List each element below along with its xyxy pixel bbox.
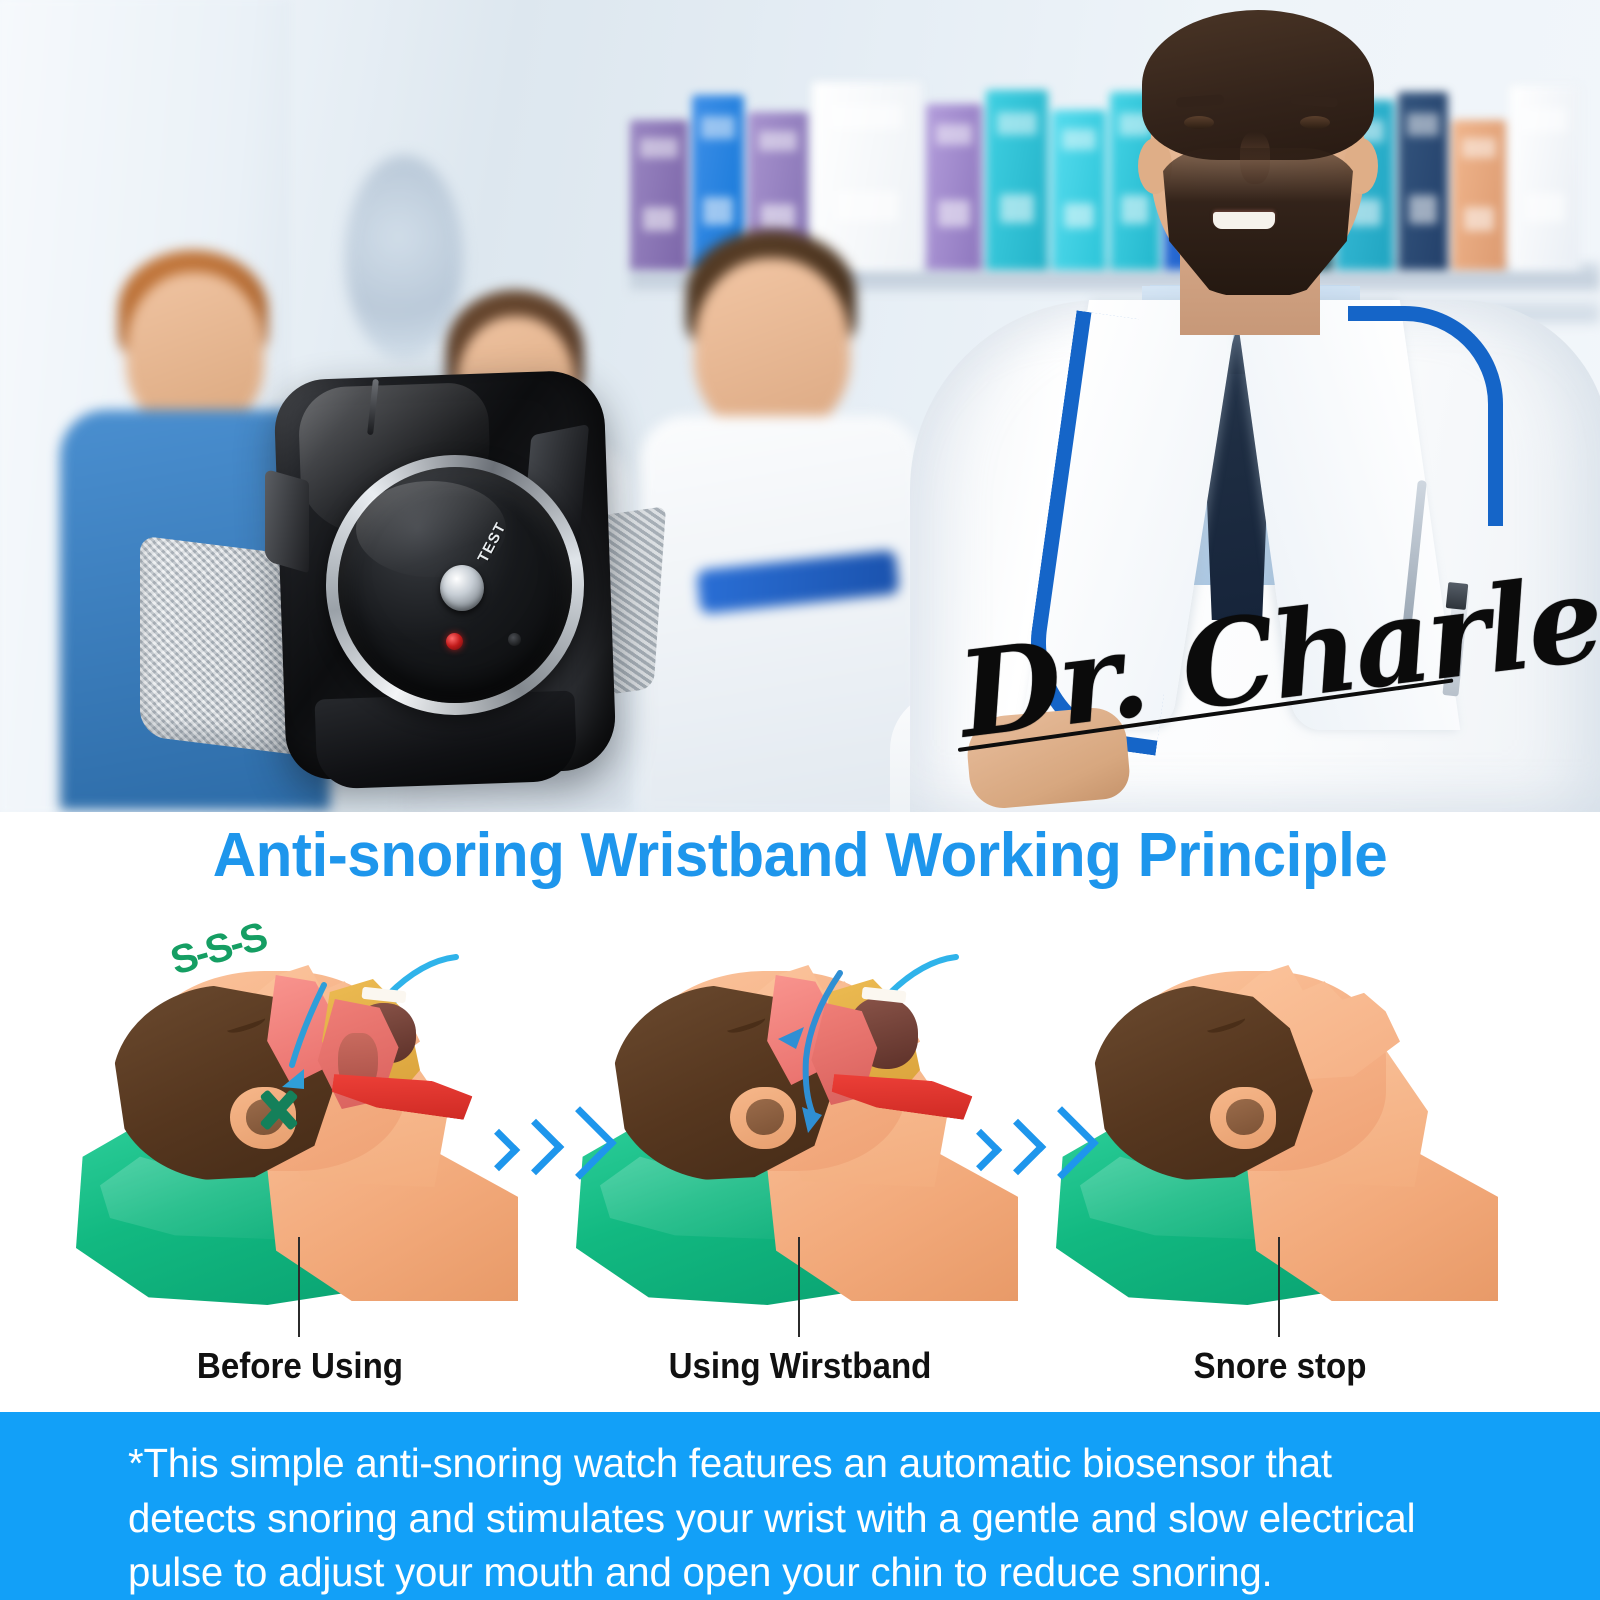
chevron-separator-2 [960,1105,1080,1215]
working-principle-diagram: S-S-S [0,905,1600,1410]
blocked-airway-marker [256,1087,302,1133]
doctor-eye-right [1300,116,1330,129]
doctor-eye-left [1184,116,1214,129]
doctor-hand [964,705,1131,811]
chevron-separator-1 [478,1105,598,1215]
device-microphone-icon [508,633,521,646]
hero-photo-section: Dr. Charles TEST [0,0,1600,812]
pen-clip [1446,582,1469,610]
airflow-path-open-icon [756,967,866,1157]
panel-caption-before-using: Before Using [88,1345,511,1387]
device-led-indicator [446,633,463,650]
page-title: Anti-snoring Wristband Working Principle [24,820,1576,891]
product-wristband: TEST [130,365,670,795]
illustration-snoring: S-S-S [70,937,530,1277]
infographic-page: Dr. Charles TEST Anti-snoring Wristband … [0,0,1600,1600]
diagram-panel-snore-stop: Snore stop [1050,905,1510,1410]
caption-leader-line [1278,1237,1280,1337]
diagram-panel-before-using: S-S-S [70,905,530,1410]
device-test-button[interactable] [440,565,484,611]
doctor-smile [1213,212,1275,229]
footnote-text: *This simple anti-snoring watch features… [128,1436,1451,1600]
caption-leader-line [798,1237,800,1337]
caption-leader-line [298,1237,300,1337]
device-side-button[interactable] [265,469,309,574]
panel-caption-using-wristband: Using Wirstband [588,1345,1011,1387]
panel-caption-snore-stop: Snore stop [1068,1345,1491,1387]
illustration-peaceful-sleep [1050,937,1510,1277]
footnote-banner: *This simple anti-snoring watch features… [0,1412,1600,1600]
doctor-portrait [850,0,1600,812]
